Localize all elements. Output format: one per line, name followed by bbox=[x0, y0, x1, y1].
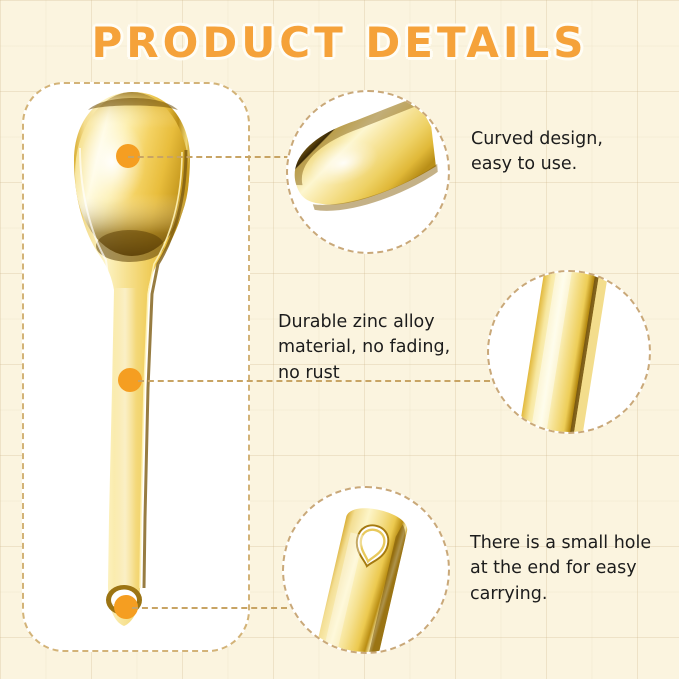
page-title: PRODUCT DETAILS bbox=[0, 18, 679, 67]
spoon-bowl-sheen bbox=[80, 114, 160, 218]
detail-hole-svg bbox=[284, 488, 448, 652]
callout-text-curved-design: Curved design, easy to use. bbox=[471, 127, 671, 178]
connector-line-bowl bbox=[128, 156, 290, 158]
detail-circle-hole bbox=[282, 486, 450, 654]
spoon-handle-glow bbox=[114, 288, 136, 608]
callout-text-small-hole: There is a small hole at the end for eas… bbox=[470, 531, 675, 607]
connector-line-hole bbox=[132, 607, 287, 609]
detail-bowl-svg bbox=[288, 92, 448, 252]
detail-shaft-svg bbox=[489, 272, 649, 432]
spoon-illustration-svg bbox=[58, 88, 208, 636]
callout-text-zinc-alloy: Durable zinc alloy material, no fading, … bbox=[278, 310, 483, 386]
detail-circle-shaft bbox=[487, 270, 651, 434]
product-details-infographic: PRODUCT DETAILS bbox=[0, 0, 679, 679]
spoon-bowl-underside-shadow bbox=[96, 230, 164, 262]
product-image-spoon bbox=[58, 88, 208, 636]
detail-circle-bowl bbox=[286, 90, 450, 254]
